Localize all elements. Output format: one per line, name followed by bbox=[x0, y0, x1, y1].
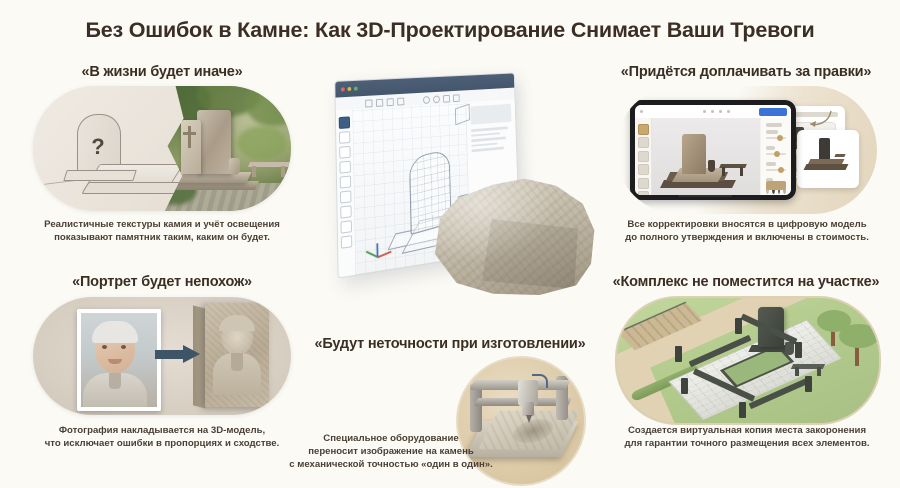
panel-image-complex-wont-fit bbox=[615, 296, 881, 425]
monument-stele bbox=[682, 134, 706, 174]
panel-image-portrait-not-alike bbox=[33, 297, 291, 415]
slider-track[interactable] bbox=[766, 169, 786, 171]
collar bbox=[109, 373, 121, 389]
eye-left bbox=[102, 345, 107, 349]
panel-heading-complex-wont-fit: «Комплекс не поместится на участке» bbox=[605, 274, 887, 290]
monument-back-stele bbox=[197, 110, 231, 174]
property-line bbox=[471, 132, 501, 137]
fence-post bbox=[735, 318, 742, 334]
foliage-blob bbox=[245, 86, 291, 126]
panel-heading-manufacturing-inaccuracies: «Будут неточности при изготовлении» bbox=[300, 336, 600, 352]
bench-leg bbox=[817, 367, 821, 376]
minimize-icon[interactable] bbox=[347, 86, 351, 90]
panel-caption-manufacturing-inaccuracies: Специальное оборудование переносит изобр… bbox=[276, 432, 506, 472]
tree-canopy bbox=[839, 324, 879, 348]
eye-right bbox=[121, 345, 126, 349]
cross-icon bbox=[183, 132, 196, 135]
extrude-tool-icon[interactable] bbox=[339, 161, 350, 174]
machine-cable bbox=[532, 374, 548, 388]
toolbar-icon[interactable] bbox=[365, 99, 372, 107]
monument-vase bbox=[708, 160, 715, 172]
version-card-active[interactable] bbox=[797, 130, 859, 188]
photo-image bbox=[81, 313, 157, 407]
panel-caption-portrait-not-alike: Фотография накладывается на 3D-модель, ч… bbox=[23, 424, 301, 450]
shape-tool-icon[interactable] bbox=[638, 137, 649, 148]
preview-box bbox=[470, 104, 511, 125]
measure-tool-icon[interactable] bbox=[638, 191, 649, 195]
toolbar-icon[interactable] bbox=[443, 95, 450, 103]
toolbar-icon[interactable] bbox=[387, 98, 394, 106]
3d-viewport[interactable] bbox=[652, 118, 760, 195]
stone-vase bbox=[785, 342, 794, 355]
slider-knob[interactable] bbox=[777, 135, 783, 141]
hair-shape bbox=[92, 321, 138, 343]
confirm-button[interactable] bbox=[766, 181, 786, 190]
sketch-half: ? bbox=[33, 86, 183, 211]
machine-spindle bbox=[522, 402, 534, 416]
property-line bbox=[471, 142, 497, 147]
panel-heading-portrait-not-alike: «Портрет будет непохож» bbox=[33, 274, 291, 290]
axis-gizmo-icon bbox=[377, 237, 394, 257]
toolbar-icon[interactable] bbox=[397, 98, 404, 106]
engraved-hair bbox=[219, 315, 255, 331]
machine-column-left bbox=[470, 384, 482, 432]
mini-stele bbox=[819, 138, 830, 160]
tablet-device bbox=[630, 100, 796, 200]
grid-icon[interactable] bbox=[727, 110, 730, 113]
tablet-screen bbox=[635, 105, 791, 195]
fence-post bbox=[805, 376, 812, 392]
property-line bbox=[471, 126, 508, 131]
control-label bbox=[766, 146, 775, 150]
home-indicator bbox=[678, 195, 732, 197]
property-line bbox=[471, 136, 505, 141]
tool-sidebar bbox=[635, 118, 652, 195]
source-photo-card bbox=[77, 309, 161, 411]
fence-post bbox=[675, 346, 682, 362]
control-label bbox=[766, 162, 776, 166]
toolbar-icon[interactable] bbox=[453, 94, 460, 102]
revision-arrow-icon bbox=[807, 108, 833, 130]
page-title: Без Ошибок в Камне: Как 3D-Проектировани… bbox=[0, 18, 900, 43]
bench-leg bbox=[722, 167, 725, 176]
rotate-tool-icon[interactable] bbox=[340, 175, 351, 188]
sketch-slab-lower bbox=[81, 182, 184, 194]
control-label bbox=[766, 123, 782, 127]
slider-track[interactable] bbox=[766, 137, 786, 139]
mini-base bbox=[804, 164, 849, 170]
mini-bench bbox=[834, 154, 845, 157]
back-chevron-icon[interactable] bbox=[640, 110, 643, 113]
arrow-shaft bbox=[155, 350, 185, 359]
fence-post bbox=[739, 402, 746, 418]
properties-panel bbox=[761, 118, 791, 195]
panel-caption-complex-wont-fit: Создается виртуальная копия места закоро… bbox=[608, 424, 886, 450]
toolbar-icon[interactable] bbox=[376, 99, 383, 107]
undo-icon[interactable] bbox=[703, 110, 706, 113]
redo-icon[interactable] bbox=[711, 110, 714, 113]
panel-caption-life-will-differ: Реалистичные текстуры камия и учёт освещ… bbox=[23, 218, 301, 244]
transfer-arrow-icon bbox=[155, 345, 201, 363]
slider-knob[interactable] bbox=[778, 167, 784, 173]
panel-heading-extra-payment: «Придётся доплачивать за правки» bbox=[605, 64, 887, 80]
slider-knob[interactable] bbox=[774, 151, 780, 157]
panel-caption-extra-payment: Все корректировки вносятся в цифровую мо… bbox=[608, 218, 886, 244]
pen-tool-icon[interactable] bbox=[638, 151, 649, 162]
select-tool-icon[interactable] bbox=[638, 124, 649, 135]
panel-image-extra-payment bbox=[615, 86, 877, 214]
panel-heading-life-will-differ: «В жизни будет иначе» bbox=[33, 64, 291, 80]
render-tool-icon[interactable] bbox=[341, 235, 352, 249]
scale-tool-icon[interactable] bbox=[340, 190, 351, 203]
fence-post bbox=[681, 378, 688, 394]
bench-leg bbox=[795, 367, 799, 376]
material-tool-icon[interactable] bbox=[638, 164, 649, 175]
fence-post bbox=[795, 342, 802, 358]
cross-icon bbox=[188, 126, 191, 148]
light-tool-icon[interactable] bbox=[638, 178, 649, 189]
bench-leg bbox=[740, 167, 743, 176]
bench-leg bbox=[281, 166, 285, 177]
mirror-tool-icon[interactable] bbox=[340, 205, 351, 218]
foliage-blob bbox=[237, 126, 287, 160]
question-mark-label: ? bbox=[77, 134, 119, 160]
bench-leg bbox=[252, 166, 256, 177]
infographic-root: Без Ошибок в Камне: Как 3D-Проектировани… bbox=[0, 0, 900, 488]
slider-track[interactable] bbox=[766, 153, 786, 155]
property-line bbox=[472, 147, 504, 152]
line-tool-icon[interactable] bbox=[339, 131, 350, 144]
stone-vase bbox=[229, 158, 240, 175]
cutting-bit-icon bbox=[526, 415, 532, 423]
engraved-collar bbox=[231, 353, 243, 371]
select-tool-icon[interactable] bbox=[339, 116, 350, 129]
maximize-icon[interactable] bbox=[354, 86, 358, 90]
approve-button[interactable] bbox=[759, 108, 787, 116]
rock-shadow-face bbox=[482, 219, 578, 289]
panel-image-life-will-differ: ? bbox=[33, 86, 291, 211]
granite-slab bbox=[205, 303, 269, 407]
app-topbar bbox=[635, 105, 791, 119]
more-icon[interactable] bbox=[719, 110, 722, 113]
measure-tool-icon[interactable] bbox=[341, 220, 352, 233]
sketch-base bbox=[63, 170, 137, 181]
close-icon[interactable] bbox=[341, 87, 345, 91]
arrow-head bbox=[183, 345, 200, 363]
control-label bbox=[766, 130, 778, 134]
axis-z bbox=[376, 243, 378, 257]
monument-front-stele bbox=[181, 120, 201, 174]
axis-x bbox=[377, 250, 391, 257]
rect-tool-icon[interactable] bbox=[339, 146, 350, 159]
